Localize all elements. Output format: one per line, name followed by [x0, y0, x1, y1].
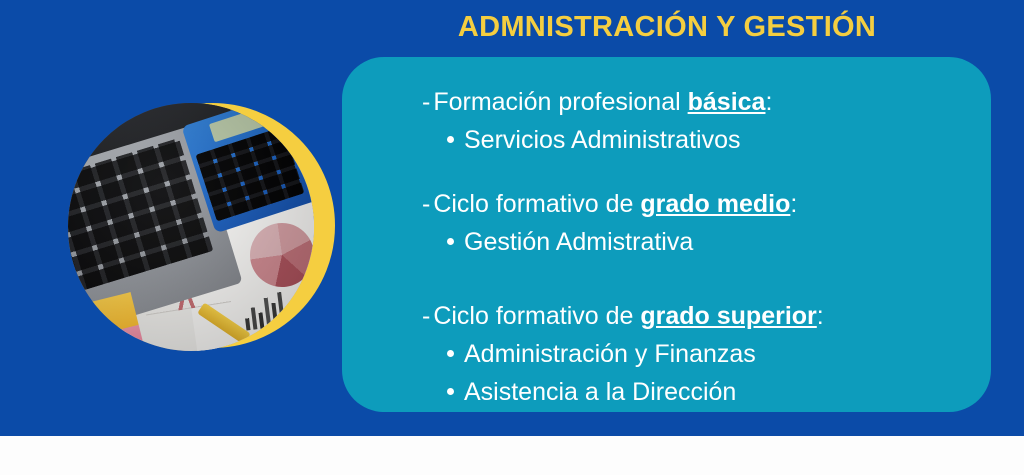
office-desk-photo: [68, 103, 314, 351]
list-item-label: Servicios Administrativos: [464, 126, 740, 154]
dash-marker: -: [422, 297, 430, 335]
dash-marker: -: [422, 83, 430, 121]
program-group-basica: - Formación profesional básica: Servicio…: [342, 83, 991, 159]
list-item-label: Gestión Admistrativa: [464, 228, 693, 256]
dark-bar-chart-graphic: [242, 285, 306, 330]
heading-suffix: :: [817, 302, 824, 330]
heading-text: Formación profesional: [433, 88, 687, 116]
group-heading: - Ciclo formativo de grado superior:: [342, 297, 991, 335]
program-group-grado-medio: - Ciclo formativo de grado medio: Gestió…: [342, 185, 991, 261]
heading-text: Ciclo formativo de: [433, 190, 640, 218]
list-item: Servicios Administrativos: [342, 121, 991, 159]
program-group-grado-superior: - Ciclo formativo de grado superior: Adm…: [342, 297, 991, 411]
list-item: Asistencia a la Dirección: [342, 373, 991, 411]
group-heading: - Formación profesional básica:: [342, 83, 991, 121]
heading-emphasis: grado medio: [640, 190, 790, 218]
bullet-icon: [447, 388, 454, 395]
bullet-icon: [447, 350, 454, 357]
page-title: ADMNISTRACIÓN Y GESTIÓN: [342, 8, 992, 46]
content-panel: - Formación profesional básica: Servicio…: [342, 57, 991, 412]
group-heading: - Ciclo formativo de grado medio:: [342, 185, 991, 223]
list-item: Administración y Finanzas: [342, 335, 991, 373]
bullet-icon: [447, 238, 454, 245]
heading-emphasis: grado superior: [640, 302, 816, 330]
heading-suffix: :: [765, 88, 772, 116]
heading-suffix: :: [790, 190, 797, 218]
list-item-label: Asistencia a la Dirección: [464, 378, 736, 406]
list-item-label: Administración y Finanzas: [464, 340, 756, 368]
bullet-icon: [447, 136, 454, 143]
heading-text: Ciclo formativo de: [433, 302, 640, 330]
dash-marker: -: [422, 185, 430, 223]
heading-emphasis: básica: [688, 88, 766, 116]
list-item: Gestión Admistrativa: [342, 223, 991, 261]
slide-root: ADMNISTRACIÓN Y GESTIÓN: [0, 0, 1024, 475]
footer-strip: [0, 436, 1024, 475]
photo-composition: [60, 95, 330, 365]
content-panel-inner: - Formación profesional básica: Servicio…: [342, 57, 991, 412]
